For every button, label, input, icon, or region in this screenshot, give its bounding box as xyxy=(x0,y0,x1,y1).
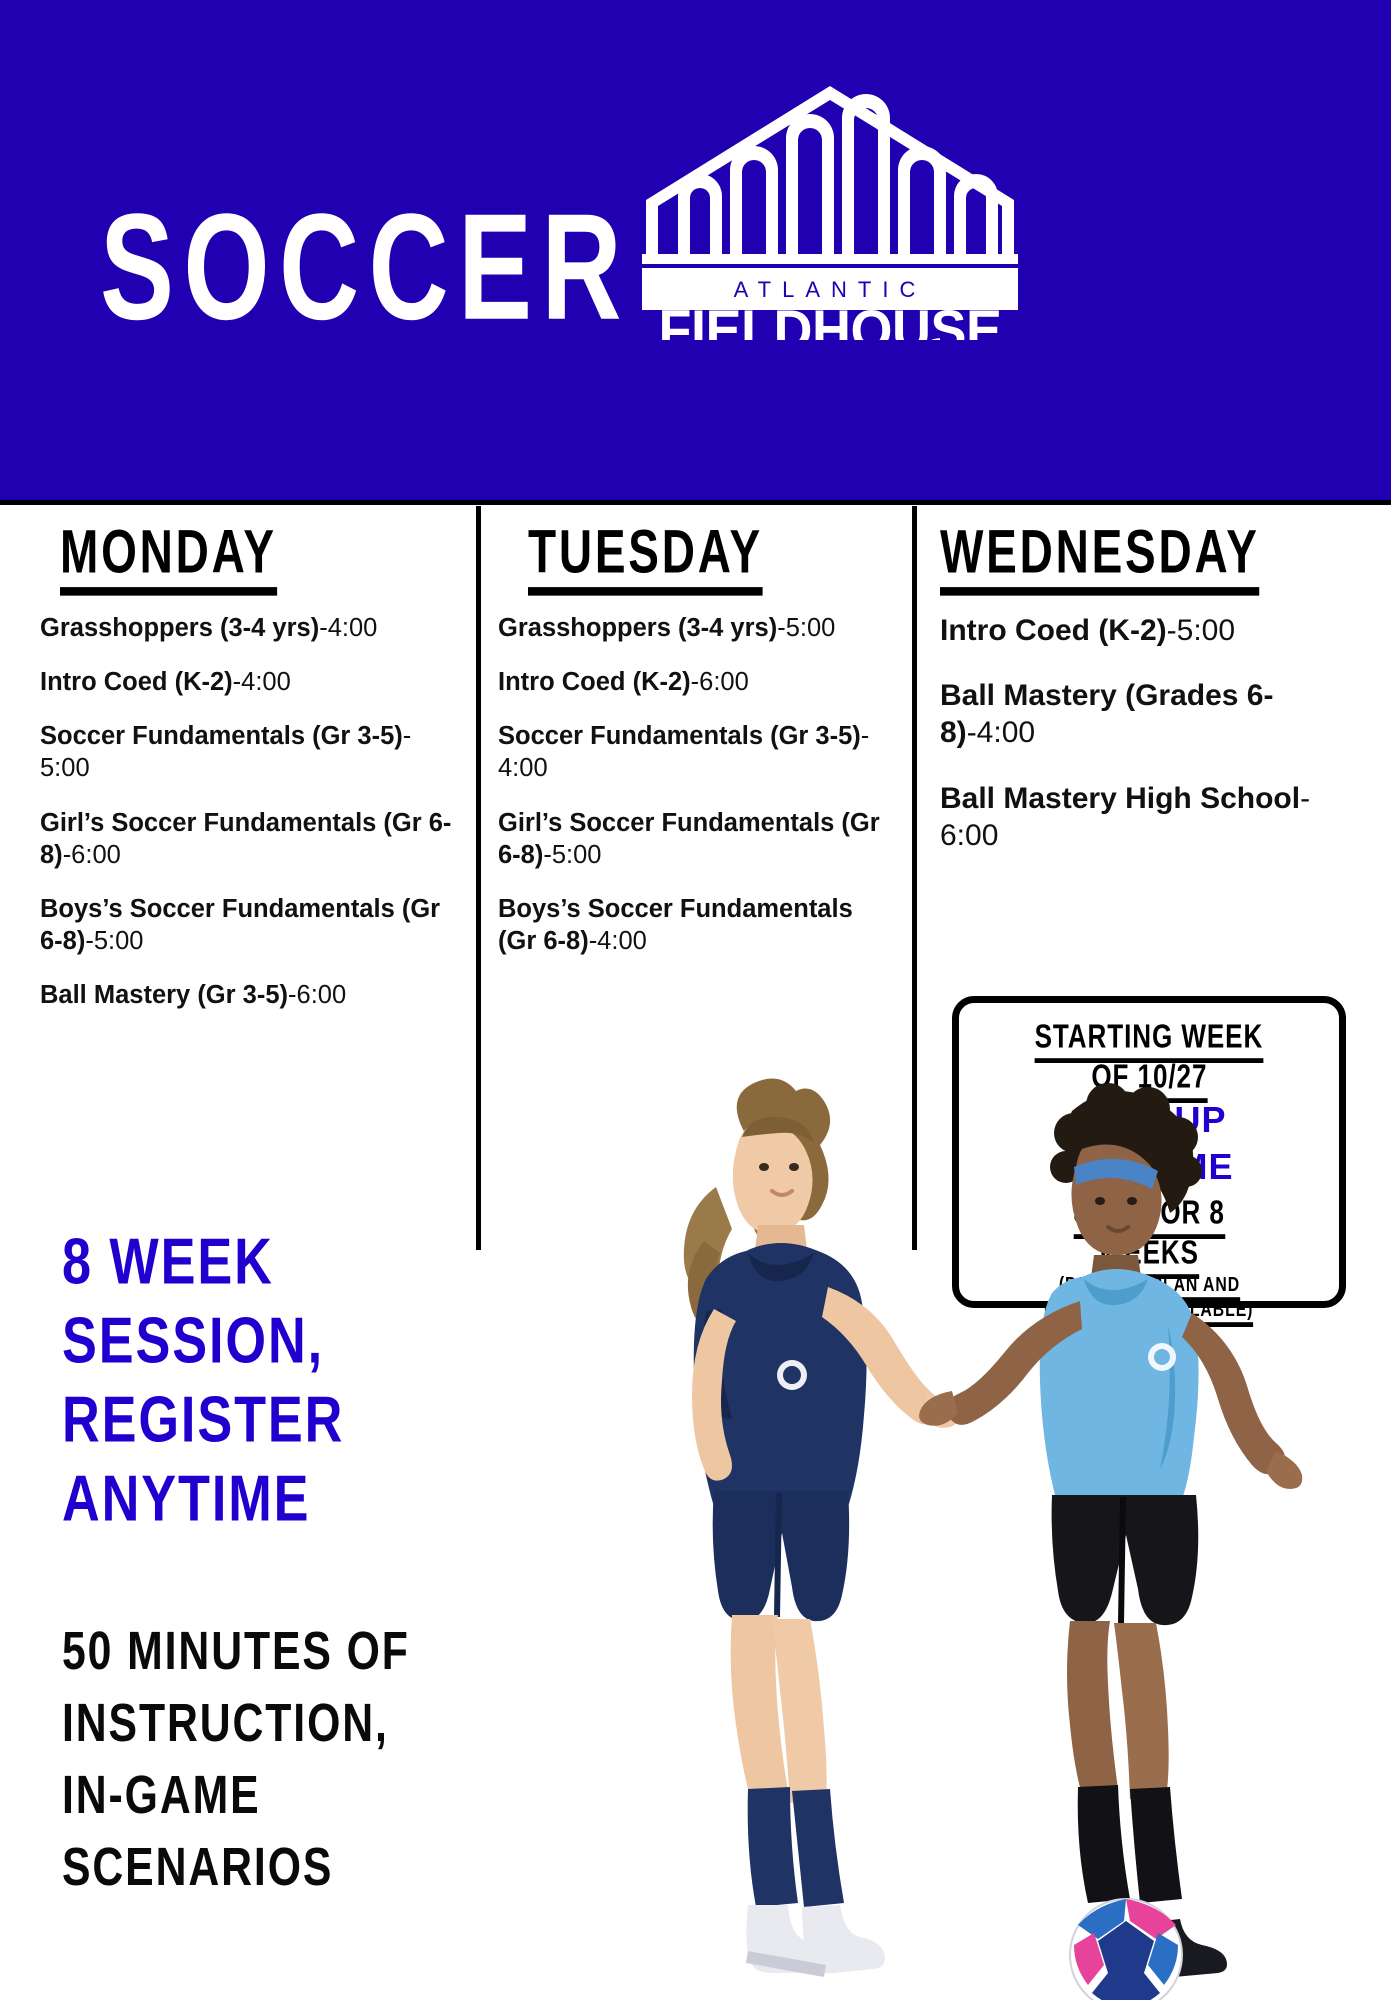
day-heading-wrap-monday: MONDAY xyxy=(38,520,458,598)
promo-line-1: 8 WEEK xyxy=(62,1222,461,1301)
day-heading-wednesday: WEDNESDAY xyxy=(940,520,1260,596)
class-list-wednesday: Intro Coed (K-2)-5:00 Ball Mastery (Grad… xyxy=(938,612,1358,854)
column-divider-1 xyxy=(476,506,481,1250)
soccer-players-photo xyxy=(596,1075,1391,2000)
class-list-monday: Grasshoppers (3-4 yrs)-4:00 Intro Coed (… xyxy=(38,612,458,1011)
class-item: Grasshoppers (3-4 yrs)-5:00 xyxy=(498,612,896,644)
class-name: Boys’s Soccer Fundamentals (Gr 6-8) xyxy=(498,895,853,955)
page-title: SOCCER xyxy=(100,192,631,343)
header-bottom-rule xyxy=(0,500,1391,505)
promo-line-3: REGISTER xyxy=(62,1380,461,1459)
schedule-column-wednesday: WEDNESDAY Intro Coed (K-2)-5:00 Ball Mas… xyxy=(938,520,1358,882)
promo-line-2: SESSION, xyxy=(62,1301,461,1380)
class-item: Ball Mastery High School-6:00 xyxy=(940,780,1358,854)
detail-text-block: 50 MINUTES OF INSTRUCTION, IN-GAME SCENA… xyxy=(62,1615,499,1902)
class-time: -6:00 xyxy=(63,841,121,869)
atlantic-fieldhouse-logo: ATLANTIC FIELDHOUSE xyxy=(636,72,1024,340)
class-item: Grasshoppers (3-4 yrs)-4:00 xyxy=(40,612,458,644)
class-time: -5:00 xyxy=(85,927,143,955)
schedule-column-monday: MONDAY Grasshoppers (3-4 yrs)-4:00 Intro… xyxy=(38,520,458,1033)
class-name: Intro Coed (K-2) xyxy=(498,668,691,696)
class-name: Intro Coed (K-2) xyxy=(940,614,1167,647)
class-item: Intro Coed (K-2)-6:00 xyxy=(498,666,896,698)
class-name: Soccer Fundamentals (Gr 3-5) xyxy=(40,722,403,750)
class-time: -4:00 xyxy=(319,614,377,642)
day-heading-monday: MONDAY xyxy=(60,520,277,596)
class-name: Grasshoppers (3-4 yrs) xyxy=(498,614,777,642)
class-name: Ball Mastery (Gr 3-5) xyxy=(40,981,288,1009)
class-item: Girl’s Soccer Fundamentals (Gr 6-8)-5:00 xyxy=(498,807,896,871)
day-heading-tuesday: TUESDAY xyxy=(528,520,763,596)
class-item: Intro Coed (K-2)-5:00 xyxy=(940,612,1358,649)
class-name: Ball Mastery High School xyxy=(940,782,1300,815)
class-item: Boys’s Soccer Fundamentals (Gr 6-8)-5:00 xyxy=(40,893,458,957)
detail-line-4: SCENARIOS xyxy=(62,1830,499,1902)
class-time: -4:00 xyxy=(233,668,291,696)
class-time: -4:00 xyxy=(589,927,647,955)
class-item: Boys’s Soccer Fundamentals (Gr 6-8)-4:00 xyxy=(498,893,896,957)
class-name: Grasshoppers (3-4 yrs) xyxy=(40,614,319,642)
class-time: -4:00 xyxy=(967,716,1035,749)
poster-root: SOCCER xyxy=(0,0,1391,2000)
player-left xyxy=(684,1079,958,1978)
class-item: Soccer Fundamentals (Gr 3-5)- 4:00 xyxy=(498,720,896,784)
class-item: Girl’s Soccer Fundamentals (Gr 6-8)-6:00 xyxy=(40,807,458,871)
header-banner: SOCCER xyxy=(0,0,1391,500)
detail-line-2: INSTRUCTION, xyxy=(62,1687,499,1759)
promo-line-4: ANYTIME xyxy=(62,1460,461,1539)
day-heading-wrap-wednesday: WEDNESDAY xyxy=(938,520,1358,598)
class-time: -6:00 xyxy=(691,668,749,696)
class-time: -5:00 xyxy=(777,614,835,642)
class-list-tuesday: Grasshoppers (3-4 yrs)-5:00 Intro Coed (… xyxy=(496,612,896,957)
schedule-column-tuesday: TUESDAY Grasshoppers (3-4 yrs)-5:00 Intr… xyxy=(496,520,896,979)
class-time: -5:00 xyxy=(543,841,601,869)
signup-line-1-wrap: STARTING WEEK xyxy=(959,1015,1339,1055)
class-time: -6:00 xyxy=(288,981,346,1009)
player-right xyxy=(919,1083,1302,1981)
class-item: Ball Mastery (Grades 6-8)-4:00 xyxy=(940,677,1358,751)
promo-text-block: 8 WEEK SESSION, REGISTER ANYTIME xyxy=(62,1222,461,1539)
class-time: -5:00 xyxy=(1167,614,1235,647)
soccer-ball xyxy=(1070,1899,1182,2000)
class-item: Intro Coed (K-2)-4:00 xyxy=(40,666,458,698)
class-item: Soccer Fundamentals (Gr 3-5)- 5:00 xyxy=(40,720,458,784)
day-heading-wrap-tuesday: TUESDAY xyxy=(496,520,896,598)
detail-line-3: IN-GAME xyxy=(62,1759,499,1831)
class-name: Intro Coed (K-2) xyxy=(40,668,233,696)
detail-line-1: 50 MINUTES OF xyxy=(62,1615,499,1687)
class-item: Ball Mastery (Gr 3-5)-6:00 xyxy=(40,979,458,1011)
class-name: Soccer Fundamentals (Gr 3-5) xyxy=(498,722,861,750)
logo-wordmark: FIELDHOUSE xyxy=(659,298,1002,340)
